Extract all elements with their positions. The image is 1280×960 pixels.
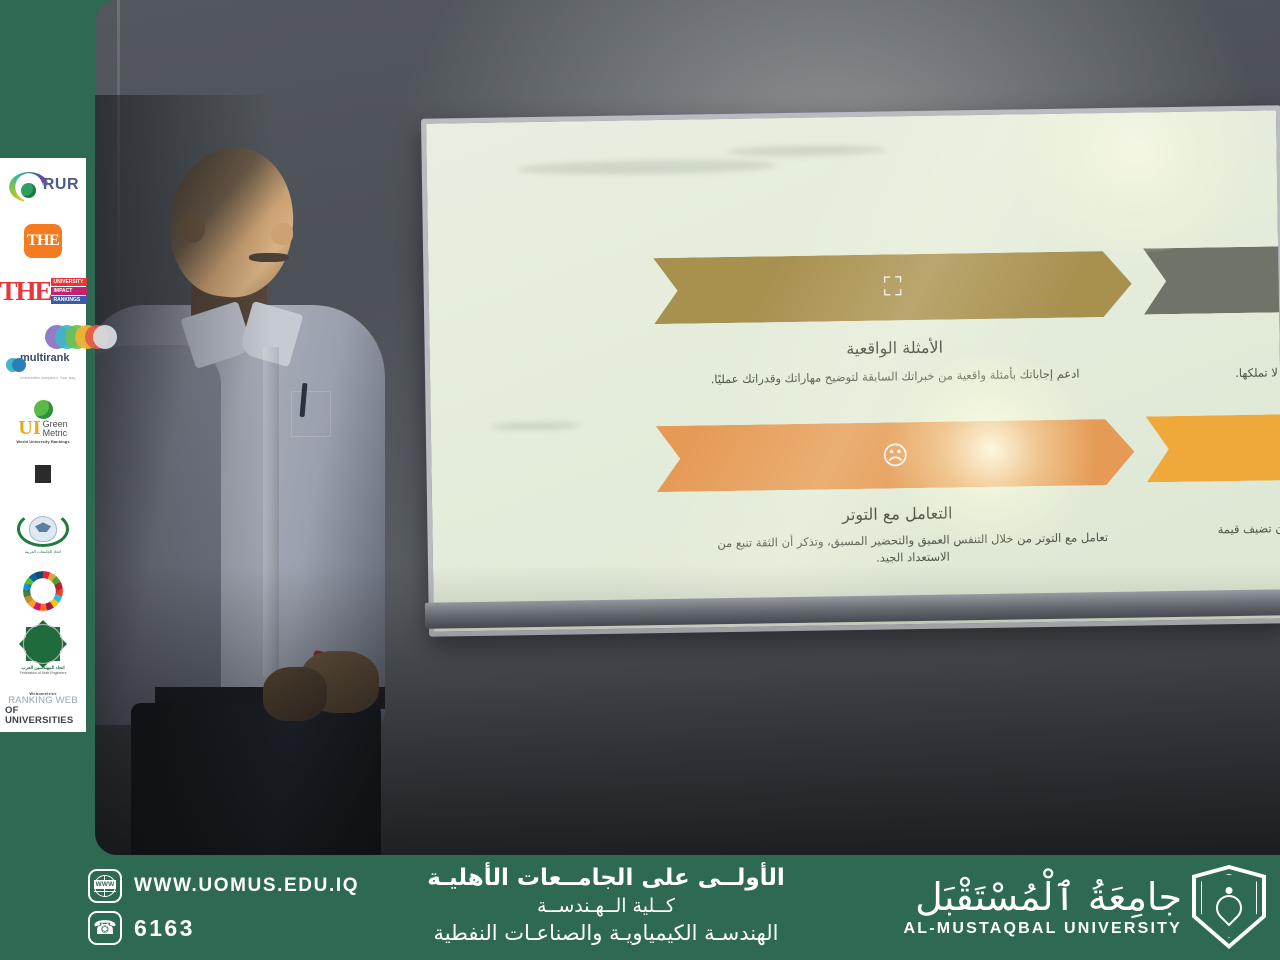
the-label: THE (24, 224, 62, 258)
university-shield-emblem (1192, 865, 1266, 949)
card-search-band: ⚲ (1143, 241, 1280, 314)
contact-block: WWW WWW.UOMUS.EDU.IQ ☎ 6163 (88, 869, 359, 945)
event-photo: بات ⚲ ⛶ ـح في إجاباتك، وتجنب المبالغة أو… (95, 0, 1280, 855)
website-url[interactable]: WWW.UOMUS.EDU.IQ (134, 875, 359, 897)
brand-arabic: جامِعَةُ ٱلْمُسْتَقْبَل (904, 875, 1182, 919)
webometrics-line3: OF UNIVERSITIES (5, 706, 81, 726)
greenmetric-sub: World University Rankings (16, 439, 69, 444)
department-name: الهندسـة الكيمياويـة والصناعـات النفطية (356, 919, 856, 947)
rur-label: RUR (43, 176, 79, 194)
ui-greenmetric-badge: UI Green Metric World University Ranking… (5, 400, 81, 444)
classical-pillars-badge (17, 460, 69, 495)
card-search-desc: في إجاباتك، وتجنب المبالغة أو الادعاء بم… (1155, 360, 1280, 384)
college-name: كــلية الــهـندســة (356, 893, 856, 919)
phone-ring-icon: ☎ (88, 911, 122, 945)
greenmetric-line2: Metric (43, 429, 68, 438)
u-multirank-badge: multirank Universities compared. Your wa… (6, 325, 80, 384)
card-search-title: ـح (1205, 334, 1280, 357)
left-green-rail: RUR THE THE UNIVERSITY IMPACT RANKINGS (0, 0, 86, 855)
aau-caption: اتحاد الجامعات العربية (25, 549, 61, 554)
greenmetric-ui-label: UI (18, 420, 40, 437)
stressed-face-icon: ☹ (882, 440, 910, 471)
phone-number[interactable]: 6163 (134, 915, 195, 942)
footer-tagline: الأولــى على الجامــعات الأهليـة (356, 863, 856, 893)
card-real-examples-desc: ادعم إجاباتك بأمثلة واقعية من خبراتك الس… (665, 365, 1125, 389)
the-impact-label: THE (0, 274, 51, 308)
university-brand: جامِعَةُ ٱلْمُسْتَقْبَل AL-MUSTAQBAL UNI… (904, 865, 1266, 949)
card-real-examples-title: الأمثلة الواقعية (755, 336, 1035, 359)
classroom-whiteboard: بات ⚲ ⛶ ـح في إجاباتك، وتجنب المبالغة أو… (421, 105, 1280, 636)
multirank-sub: Universities compared. Your way. (20, 376, 76, 380)
the-impact-line3: RANKINGS (51, 296, 87, 304)
card-stress-band: ☹ (656, 419, 1135, 492)
accreditation-badge-strip: RUR THE THE UNIVERSITY IMPACT RANKINGS (0, 158, 86, 732)
faculty-title-block: الأولــى على الجامــعات الأهليـة كــلية … (356, 863, 856, 947)
federation-arab-engineers-badge: اتحاد المهندسين العرب Federation of Arab… (5, 627, 81, 675)
webometrics-badge: Webometrics RANKING WEB OF UNIVERSITIES (5, 691, 81, 726)
card-real-examples-band: ⛶ (653, 251, 1132, 324)
rur-ranking-badge: RUR (5, 166, 81, 208)
card-company-value-band: ☉ (1146, 409, 1280, 482)
photo-content: بات ⚲ ⛶ ـح في إجاباتك، وتجنب المبالغة أو… (95, 0, 1280, 855)
the-impact-rankings-badge: THE UNIVERSITY IMPACT RANKINGS (5, 274, 81, 308)
multirank-label: multirank (20, 352, 70, 364)
card-company-value-title (1207, 500, 1280, 504)
the-impact-line1: UNIVERSITY (51, 278, 87, 286)
card-stress-desc: تعامل مع التوتر من خلال التنفس العميق وا… (698, 529, 1128, 570)
page-footer: WWW WWW.UOMUS.EDU.IQ ☎ 6163 الأولــى على… (0, 855, 1280, 960)
card-stress-title: التعامل مع التوتر (757, 502, 1037, 525)
fae-english: Federation of Arab Engineers (20, 671, 67, 675)
the-impact-line2: IMPACT (51, 287, 87, 295)
phone-row[interactable]: ☎ 6163 (88, 911, 359, 945)
sdg-goals-badge: SUSTAINABLE DEVELOPMENT GOALS (5, 571, 81, 611)
website-row[interactable]: WWW WWW.UOMUS.EDU.IQ (88, 869, 359, 903)
globe-www-icon: WWW (88, 869, 122, 903)
arab-universities-union-badge: اتحاد الجامعات العربية (5, 511, 81, 554)
sdg-line3: GOALS (28, 593, 58, 598)
photo-stage: بات ⚲ ⛶ ـح في إجاباتك، وتجنب المبالغة أو… (0, 0, 1280, 960)
the-ranking-badge: THE (5, 224, 81, 258)
card-company-value-desc: هتمامك الشديد بالوظيفة والشركة، وكيف يمك… (1157, 516, 1280, 540)
brand-english: AL-MUSTAQBAL UNIVERSITY (904, 919, 1182, 939)
projected-slide: بات ⚲ ⛶ ـح في إجاباتك، وتجنب المبالغة أو… (611, 113, 1280, 598)
presenter-board-icon: ⛶ (883, 271, 902, 303)
room-vignette (95, 565, 1280, 855)
